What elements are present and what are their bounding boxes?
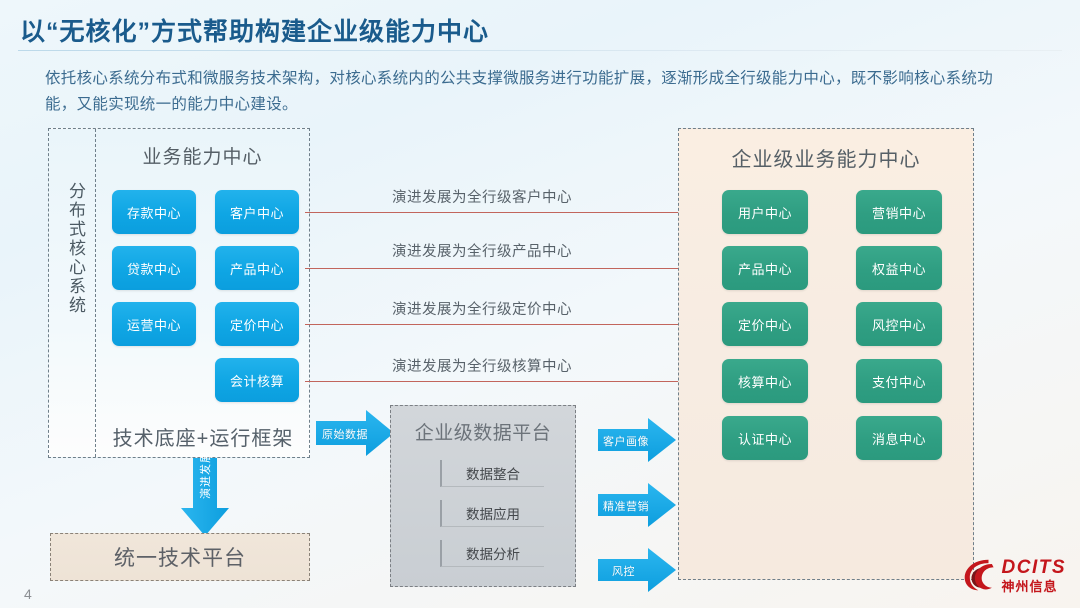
outflow-arrow-marketing: 精准营销 [598,483,676,527]
data-platform-item-label: 数据应用 [466,503,520,523]
page-subtitle: 依托核心系统分布式和微服务技术架构，对核心系统内的公共支撑微服务进行功能扩展，逐… [45,66,1005,118]
evolution-label-product: 演进发展为全行级产品中心 [392,240,572,261]
capability-box-label: 运营中心 [127,315,181,334]
evolution-line-4 [305,381,719,382]
logo-en-text: DCITS [1002,558,1067,577]
logo-cn-text: 神州信息 [1002,580,1067,593]
enterprise-box-label: 产品中心 [738,259,792,278]
enterprise-box-label: 支付中心 [872,372,926,391]
enterprise-box-marketing[interactable]: 营销中心 [856,190,942,234]
enterprise-box-label: 用户中心 [738,203,792,222]
data-platform-item-application[interactable]: 数据应用 [440,500,544,527]
enterprise-box-auth[interactable]: 认证中心 [722,416,808,460]
page-title: 以“无核化”方式帮助构建企业级能力中心 [20,12,489,48]
enterprise-box-label: 认证中心 [738,429,792,448]
capability-box-label: 贷款中心 [127,259,181,278]
enterprise-box-label: 风控中心 [872,315,926,334]
evolution-label-customer: 演进发展为全行级客户中心 [392,186,572,207]
slide-root: 以“无核化”方式帮助构建企业级能力中心 依托核心系统分布式和微服务技术架构，对核… [0,0,1080,608]
capability-box-pricing[interactable]: 定价中心 [215,302,299,346]
capability-box-label: 客户中心 [230,203,284,222]
title-divider [18,50,1062,51]
outflow-arrow-label: 客户画像 [603,433,649,449]
enterprise-box-user[interactable]: 用户中心 [722,190,808,234]
enterprise-box-product[interactable]: 产品中心 [722,246,808,290]
enterprise-box-label: 核算中心 [738,372,792,391]
capability-box-deposit[interactable]: 存款中心 [112,190,196,234]
data-platform-item-analysis[interactable]: 数据分析 [440,540,544,567]
enterprise-box-pricing[interactable]: 定价中心 [722,302,808,346]
enterprise-box-rights[interactable]: 权益中心 [856,246,942,290]
capability-box-customer[interactable]: 客户中心 [215,190,299,234]
raw-data-arrow: 原始数据 [316,410,394,456]
capability-box-operation[interactable]: 运营中心 [112,302,196,346]
outflow-arrow-icon [598,548,676,592]
enterprise-box-message[interactable]: 消息中心 [856,416,942,460]
capability-box-label: 存款中心 [127,203,181,222]
capability-box-label: 定价中心 [230,315,284,334]
core-frame-divider [95,129,96,457]
unified-tech-platform-label: 统一技术平台 [114,542,246,572]
evolution-down-arrow-label: 演进发展 [197,461,213,499]
outflow-arrow-label: 精准营销 [603,498,649,514]
evolution-label-pricing: 演进发展为全行级定价中心 [392,298,572,319]
enterprise-box-label: 营销中心 [872,203,926,222]
capability-box-loan[interactable]: 贷款中心 [112,246,196,290]
evolution-line-1 [305,212,719,213]
page-number: 4 [24,586,32,602]
logo-text: DCITS 神州信息 [1002,558,1067,593]
outflow-arrow-label: 风控 [612,563,635,579]
evolution-label-accounting: 演进发展为全行级核算中心 [392,355,572,376]
enterprise-box-label: 定价中心 [738,315,792,334]
outflow-arrow-risk: 风控 [598,548,676,592]
evolution-line-2 [305,268,719,269]
enterprise-box-label: 消息中心 [872,429,926,448]
raw-data-arrow-label: 原始数据 [322,426,368,442]
data-platform-item-label: 数据整合 [466,463,520,483]
business-capability-title: 业务能力中心 [100,142,305,169]
evolution-down-arrow: 演进发展 [181,458,229,536]
dcits-swoosh-icon [963,557,997,593]
data-platform-item-label: 数据分析 [466,543,520,563]
enterprise-box-payment[interactable]: 支付中心 [856,359,942,403]
evolution-line-3 [305,324,719,325]
enterprise-capability-title: 企业级业务能力中心 [678,143,974,172]
enterprise-box-accounting[interactable]: 核算中心 [722,359,808,403]
outflow-arrow-profiling: 客户画像 [598,418,676,462]
capability-box-label: 产品中心 [230,259,284,278]
capability-box-label: 会计核算 [230,371,284,390]
distributed-core-label: 分布式核心系统 [52,182,90,315]
enterprise-box-risk[interactable]: 风控中心 [856,302,942,346]
capability-box-accounting[interactable]: 会计核算 [215,358,299,402]
enterprise-box-label: 权益中心 [872,259,926,278]
data-platform-item-integration[interactable]: 数据整合 [440,460,544,487]
company-logo: DCITS 神州信息 [963,552,1067,598]
unified-tech-platform[interactable]: 统一技术平台 [50,533,310,581]
data-platform-title: 企业级数据平台 [390,418,576,445]
capability-box-product[interactable]: 产品中心 [215,246,299,290]
